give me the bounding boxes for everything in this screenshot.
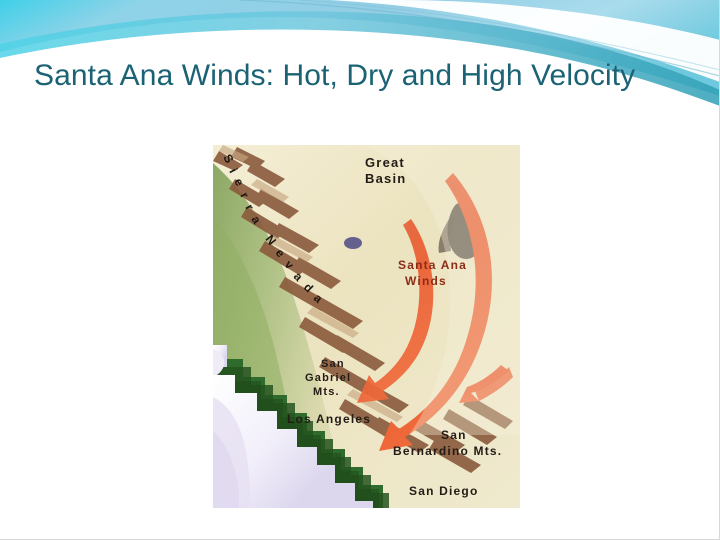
slide-title-block: Santa Ana Winds: Hot, Dry and High Veloc… — [34, 56, 654, 96]
map-label-santa-ana-winds-2: Winds — [405, 274, 447, 288]
santa-ana-winds-map-image: Great Basin Santa Ana Winds San Gabriel … — [213, 145, 520, 508]
map-label-san-diego: San Diego — [409, 484, 478, 498]
map-label-great-basin-2: Basin — [365, 171, 406, 186]
map-label-san-gabriel-mts: San — [321, 358, 345, 370]
map-label-great-basin: Great — [365, 155, 405, 170]
presentation-slide: Santa Ana Winds: Hot, Dry and High Veloc… — [0, 0, 720, 540]
map-label-santa-ana-winds: Santa Ana — [398, 258, 467, 272]
relief-map-graphic: Great Basin Santa Ana Winds San Gabriel … — [213, 145, 520, 508]
map-label-los-angeles: Los Angeles — [287, 412, 371, 426]
map-label-san-bernardino-mts-2: Bernardino Mts. — [393, 444, 502, 458]
page-title: Santa Ana Winds: Hot, Dry and High Veloc… — [34, 56, 654, 96]
map-label-san-gabriel-mts-3: Mts. — [313, 386, 340, 398]
map-label-san-gabriel-mts-2: Gabriel — [305, 372, 351, 384]
map-label-san-bernardino-mts: San — [441, 428, 467, 442]
